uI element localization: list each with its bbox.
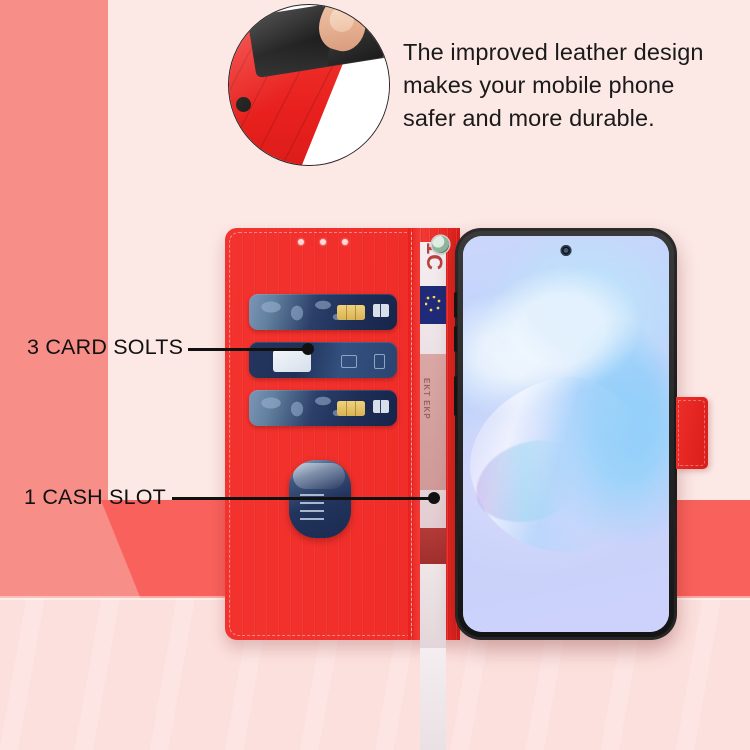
magnetic-closure-strap xyxy=(676,397,708,469)
banknote-microtext: EKT EKP xyxy=(422,378,431,420)
eu-stars-icon xyxy=(425,296,441,312)
headline-line-3: safer and more durable. xyxy=(403,102,743,135)
table-bevel-left xyxy=(0,500,232,600)
product-infographic-scene: The improved leather design makes your m… xyxy=(0,0,750,750)
card-mini-square xyxy=(341,355,357,368)
card-logo-square xyxy=(373,400,389,413)
spine-stitching xyxy=(411,232,412,636)
case-spine-fold: 1C EKT EKP 10 xyxy=(408,228,460,640)
annotation-label-card-slots: 3 CARD SOLTS xyxy=(27,335,183,360)
card-slot-3 xyxy=(249,390,397,426)
power-button[interactable] xyxy=(454,376,457,416)
headline-text: The improved leather design makes your m… xyxy=(403,36,743,135)
snap-dot-1 xyxy=(298,239,304,245)
phone-device xyxy=(455,228,677,640)
card-logo-square xyxy=(373,304,389,317)
strap-stitching xyxy=(678,400,705,466)
leader-dot-cash-slot xyxy=(428,492,440,504)
leader-line-cash-slot xyxy=(172,497,436,500)
phone-screen[interactable] xyxy=(463,236,669,632)
headline-line-2: makes your mobile phone xyxy=(403,69,743,102)
banknote-segment-5 xyxy=(420,648,446,750)
callout-glass-gloss xyxy=(229,5,389,165)
banknote-segment-4 xyxy=(420,564,446,648)
front-camera-icon xyxy=(561,245,572,256)
banknote-red-band xyxy=(420,528,446,568)
card-slot-1 xyxy=(249,294,397,330)
card-chip-icon xyxy=(337,401,365,416)
card-mini-square-2 xyxy=(374,354,385,369)
leather-zoom-callout-circle xyxy=(228,4,390,166)
snap-dot-3 xyxy=(342,239,348,245)
leader-dot-card-slots xyxy=(302,343,314,355)
camera-cutout-icon xyxy=(432,236,449,253)
card-world-map-graphic xyxy=(257,393,349,423)
volume-down-button[interactable] xyxy=(454,326,457,352)
card-world-map-graphic xyxy=(257,297,349,327)
snap-dot-2 xyxy=(320,239,326,245)
snap-dots-group xyxy=(298,239,348,245)
card-chip-icon xyxy=(337,305,365,320)
leader-line-card-slots xyxy=(188,348,308,351)
banknote-eu-flag xyxy=(420,286,446,324)
cash-slot-gloss xyxy=(293,463,345,489)
banknote-segment-2 xyxy=(420,354,446,490)
volume-up-button[interactable] xyxy=(454,292,457,318)
headline-line-1: The improved leather design xyxy=(403,36,743,69)
annotation-label-cash-slot: 1 CASH SLOT xyxy=(24,485,166,510)
